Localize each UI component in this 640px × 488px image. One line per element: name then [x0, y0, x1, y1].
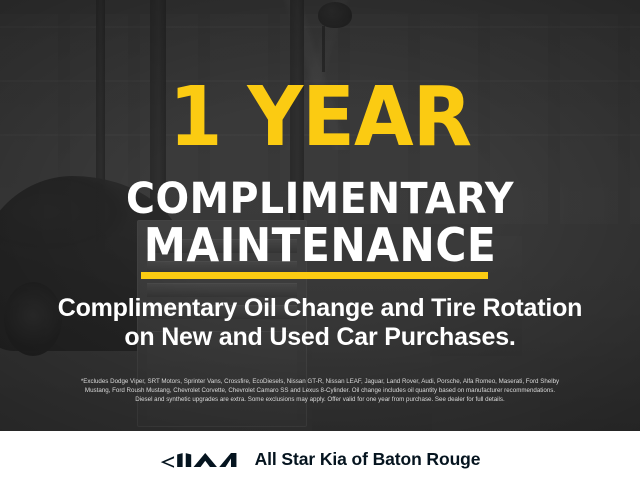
headline-maintenance: MAINTENANCE	[26, 222, 615, 268]
disclaimer-line-1: *Excludes Dodge Viper, SRT Motors, Sprin…	[14, 377, 626, 386]
kia-logo-icon	[160, 449, 238, 471]
headline-complimentary: COMPLIMENTARY	[26, 178, 615, 221]
disclaimer-text: *Excludes Dodge Viper, SRT Motors, Sprin…	[14, 377, 626, 405]
disclaimer-line-3: Diesel and synthetic upgrades are extra.…	[14, 395, 626, 404]
offer-description-line-2: on New and Used Car Purchases.	[0, 322, 640, 352]
offer-description-line-1: Complimentary Oil Change and Tire Rotati…	[0, 293, 640, 323]
yellow-divider-rule	[141, 272, 488, 279]
headline-duration: 1 YEAR	[19, 77, 621, 159]
disclaimer-line-2: Mustang, Ford Roush Mustang, Chevrolet C…	[14, 386, 626, 395]
banner-content: 1 YEAR COMPLIMENTARY MAINTENANCE Complim…	[0, 0, 640, 431]
promotional-banner: 1 YEAR COMPLIMENTARY MAINTENANCE Complim…	[0, 0, 640, 488]
dealer-footer: All Star Kia of Baton Rouge	[0, 431, 640, 488]
dealer-name-label: All Star Kia of Baton Rouge	[255, 449, 481, 470]
